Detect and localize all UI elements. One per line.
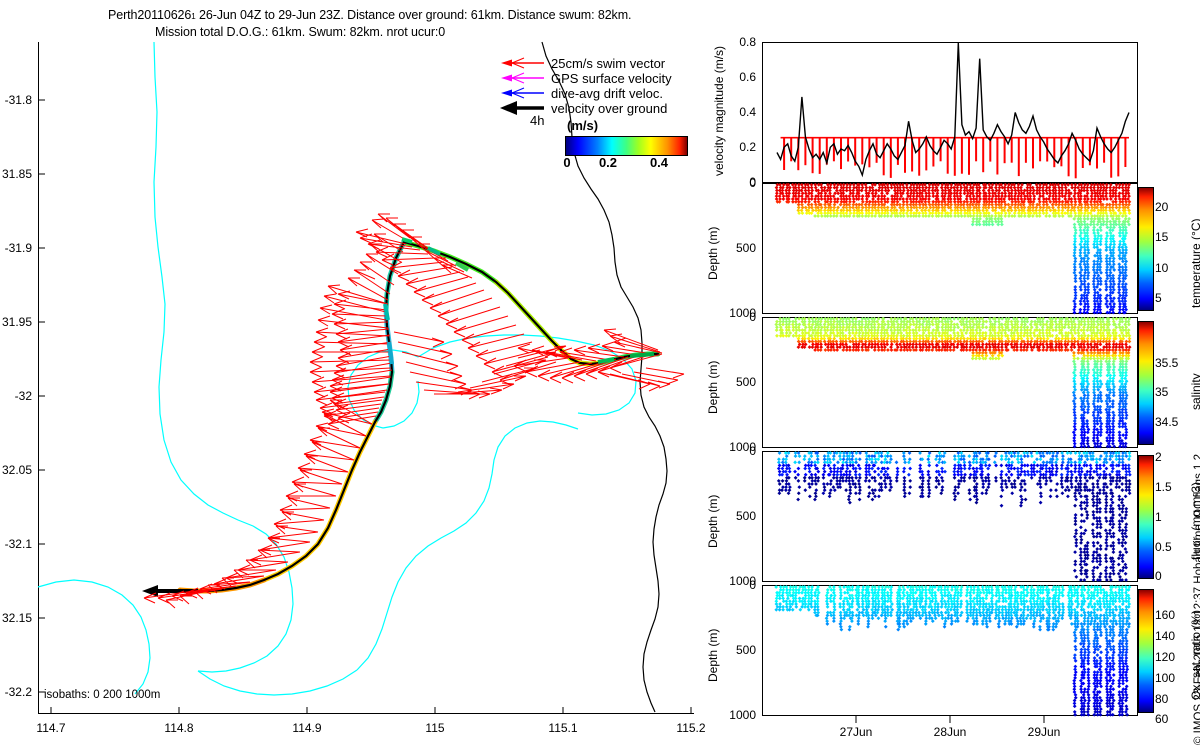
map-y-ticks	[39, 100, 46, 692]
vel-ylabel: velocity magnitude (m/s)	[712, 46, 726, 176]
legend-arrow-gps	[501, 73, 544, 83]
map-ytick-1: 31.85	[0, 167, 32, 181]
time-tick-28jun: 28Jun	[920, 725, 980, 739]
map-colorbar[interactable]	[565, 136, 688, 156]
map-ytick-6: -32.1	[0, 537, 32, 551]
fluorescence-colorbar[interactable]	[1138, 455, 1154, 579]
figure-title-line2: Mission total D.O.G.: 61km. Swum: 82km. …	[155, 25, 445, 39]
legend-arrow-swim	[501, 58, 544, 68]
oxy-cbtick-160: 160	[1155, 608, 1175, 622]
map-xtick-2: 114.9	[277, 721, 337, 735]
map-xtick-1: 114.8	[149, 721, 209, 735]
sal-ytick-0: 0	[716, 310, 756, 324]
map-ytick-3: 31.95	[0, 315, 32, 329]
legend-arrow-drift	[501, 88, 544, 98]
map-colorbar-tick-0: 0	[557, 155, 577, 170]
isobath-label: isobaths: 0 200 1000m	[44, 689, 160, 701]
velocity-magnitude-canvas	[763, 43, 1137, 182]
velocity-magnitude-panel[interactable]	[762, 42, 1138, 183]
sal-ylabel: Depth (m)	[706, 361, 720, 414]
legend-label-gps: GPS surface velocity	[551, 71, 672, 86]
sal-cbtick-345: 34.5	[1155, 415, 1178, 429]
oxy-cbtick-100: 100	[1155, 671, 1175, 685]
flu-ylabel: Depth (m)	[706, 495, 720, 548]
fluorescence-canvas	[763, 452, 1137, 581]
time-axis-ticks	[762, 716, 1138, 724]
oxygen-saturation-panel[interactable]	[762, 585, 1138, 716]
map-ytick-5: 32.05	[0, 463, 32, 477]
map-ytick-2: -31.9	[0, 241, 32, 255]
salinity-colorbar[interactable]	[1138, 321, 1154, 445]
temp-ylabel: Depth (m)	[706, 227, 720, 280]
map-colorbar-tick-2: 0.4	[645, 155, 673, 170]
oxy-cbtick-140: 140	[1155, 629, 1175, 643]
temp-cbtick-20: 20	[1155, 200, 1168, 214]
oxy-ylabel: Depth (m)	[706, 629, 720, 682]
map-x-ticks	[51, 707, 691, 714]
map-ytick-7: 32.15	[0, 611, 32, 625]
salinity-panel[interactable]	[762, 317, 1138, 448]
temp-cbtick-5: 5	[1155, 291, 1162, 305]
oxygen-canvas	[763, 586, 1137, 715]
map-ytick-4: -32	[0, 389, 32, 403]
legend-label-vog: velocity over ground	[551, 101, 667, 116]
salinity-canvas	[763, 318, 1137, 447]
map-xtick-4: 115.1	[533, 721, 593, 735]
oxy-cbtick-120: 120	[1155, 650, 1175, 664]
temp-colorbar-label: temperature (°C)	[1189, 219, 1200, 309]
oxy-cbtick-60: 60	[1155, 712, 1168, 726]
map-xtick-5: 115.2	[661, 721, 721, 735]
temperature-panel[interactable]	[762, 183, 1138, 314]
scale-bar-label: 4h	[530, 113, 544, 128]
fluorescence-panel[interactable]	[762, 451, 1138, 582]
temperature-canvas	[763, 184, 1137, 313]
flu-cbtick-05: 0.5	[1155, 540, 1172, 554]
time-tick-27jun: 27Jun	[826, 725, 886, 739]
flu-ytick-0: 0	[716, 444, 756, 458]
temp-ytick-0: 0	[716, 176, 756, 190]
oxy-ytick-0: 0	[716, 578, 756, 592]
flu-cbtick-0: 0	[1155, 569, 1162, 583]
temp-cbtick-15: 15	[1155, 230, 1168, 244]
oxy-ytick-2: 1000	[702, 708, 756, 722]
temp-cbtick-10: 10	[1155, 261, 1168, 275]
map-ytick-0: -31.8	[0, 93, 32, 107]
map-ytick-8: -32.2	[0, 685, 32, 699]
flu-cbtick-2: 2	[1155, 450, 1162, 464]
flu-cbtick-15: 1.5	[1155, 480, 1172, 494]
swim-vectors	[144, 214, 684, 608]
oxygen-colorbar[interactable]	[1138, 589, 1154, 713]
legend-label-swim: 25cm/s swim vector	[551, 56, 665, 71]
map-xtick-0: 114.7	[21, 721, 81, 735]
map-colorbar-title: (m/s)	[567, 118, 598, 133]
map-xtick-3: 115	[405, 721, 465, 735]
temperature-colorbar[interactable]	[1138, 187, 1154, 311]
sal-cbtick-35: 35	[1155, 385, 1168, 399]
imos-watermark: © IMOS 23-Feb-2016 18:12:37 Hobart time.…	[1193, 454, 1200, 745]
map-colorbar-tick-1: 0.2	[594, 155, 622, 170]
legend-label-drift: dive-avg drift veloc.	[551, 86, 663, 101]
mission-id: Perth20110626	[108, 8, 191, 22]
figure-title-line1: Perth201106261 26-Jun 04Z to 29-Jun 23Z.…	[108, 8, 631, 22]
time-tick-29jun: 29Jun	[1014, 725, 1074, 739]
flu-cbtick-1: 1	[1155, 510, 1162, 524]
sal-colorbar-label: salinity	[1189, 373, 1200, 410]
mission-summary-text: 26-Jun 04Z to 29-Jun 23Z. Distance over …	[196, 8, 632, 22]
sal-cbtick-355: 35.5	[1155, 356, 1178, 370]
oxy-cbtick-80: 80	[1155, 692, 1168, 706]
